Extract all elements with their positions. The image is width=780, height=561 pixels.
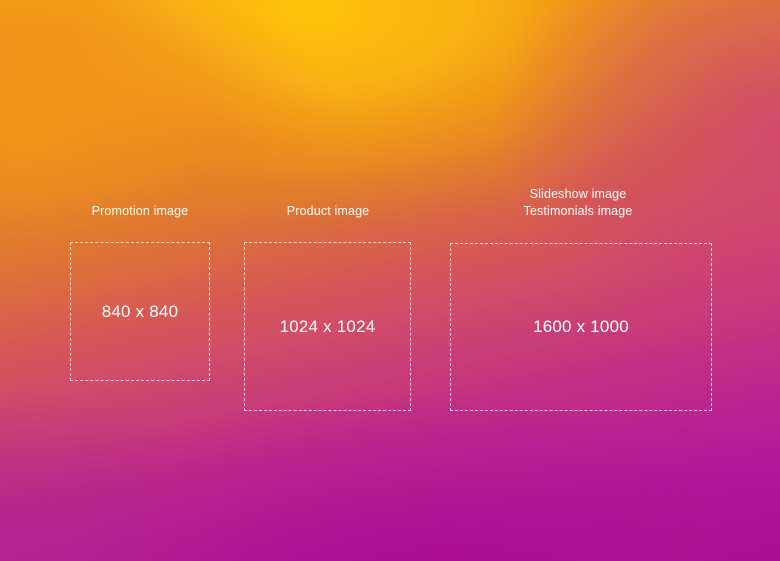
placeholder-size-promotion: 840 x 840 — [102, 302, 178, 322]
placeholder-box-product: 1024 x 1024 — [244, 242, 411, 411]
placeholder-size-product: 1024 x 1024 — [280, 317, 376, 337]
placeholder-box-promotion: 840 x 840 — [70, 242, 210, 381]
image-size-guide-canvas: Promotion image 840 x 840 Product image … — [0, 0, 780, 561]
caption-product-image: Product image — [287, 203, 370, 220]
placeholder-box-slideshow: 1600 x 1000 — [450, 243, 712, 411]
caption-promotion-image: Promotion image — [92, 203, 189, 220]
caption-slideshow-testimonials-image: Slideshow image Testimonials image — [524, 186, 633, 220]
placeholder-size-slideshow: 1600 x 1000 — [533, 317, 629, 337]
